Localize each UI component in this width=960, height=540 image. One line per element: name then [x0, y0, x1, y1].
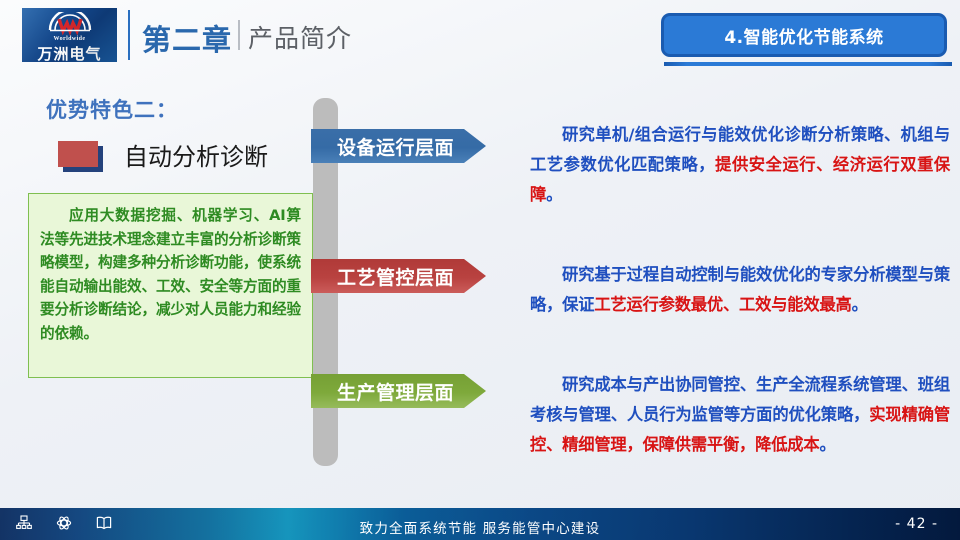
layer-arrow-process[interactable]: 工艺管控层面 — [311, 259, 486, 293]
layer-text-process-tail: 。 — [852, 295, 868, 314]
layer-arrow-equipment-label: 设备运行层面 — [311, 133, 454, 160]
chapter-separator — [238, 20, 240, 50]
slide-root: Worldwide 万洲电气 第二章 产品简介 4.智能优化节能系统 优势特色二… — [0, 0, 960, 540]
header-divider — [128, 10, 130, 60]
chapter-title: 第二章 — [142, 17, 232, 59]
layer-arrow-process-label: 工艺管控层面 — [311, 263, 454, 290]
layer-text-equipment: 研究单机/组合运行与能效优化诊断分析策略、机组与工艺参数优化匹配策略，提供安全运… — [530, 120, 950, 210]
layer-text-production-tail: 。 — [819, 435, 835, 454]
feature-section-title: 优势特色二： — [46, 94, 178, 124]
worldwide-w-emblem-icon — [22, 12, 117, 41]
topic-banner: 4.智能优化节能系统 — [664, 16, 944, 54]
slide-footer: 致力全面系统节能 服务能管中心建设 - 42 - — [0, 508, 960, 540]
layer-text-production: 研究成本与产出协同管控、生产全流程系统管理、班组考核与管理、人员行为监管等方面的… — [530, 370, 950, 460]
feature-description-box: 应用大数据挖掘、机器学习、AI算法等先进技术理念建立丰富的分析诊断策略模型，构建… — [28, 193, 313, 378]
chapter-subtitle: 产品简介 — [248, 19, 352, 55]
feature-heading-row: 自动分析诊断 — [58, 137, 268, 172]
bullet-square-icon — [58, 141, 102, 169]
footer-page-number: - 42 - — [895, 516, 938, 532]
topic-banner-underline — [664, 62, 952, 66]
layer-arrow-equipment[interactable]: 设备运行层面 — [311, 129, 486, 163]
feature-description-text: 应用大数据挖掘、机器学习、AI算法等先进技术理念建立丰富的分析诊断策略模型，构建… — [40, 204, 301, 345]
logo-latin-name: Worldwide — [22, 36, 117, 42]
feature-name: 自动分析诊断 — [124, 137, 268, 172]
layer-arrow-production[interactable]: 生产管理层面 — [311, 374, 486, 408]
layer-text-process: 研究基于过程自动控制与能效优化的专家分析模型与策略，保证工艺运行参数最优、工效与… — [530, 260, 950, 320]
footer-slogan: 致力全面系统节能 服务能管中心建设 — [0, 517, 960, 537]
logo-chinese-name: 万洲电气 — [22, 43, 117, 62]
layer-text-equipment-tail: 。 — [546, 185, 562, 204]
layer-text-process-highlight: 工艺运行参数最优、工效与能效最高 — [594, 295, 851, 314]
topic-banner-label: 4.智能优化节能系统 — [724, 23, 883, 48]
layer-arrow-production-label: 生产管理层面 — [311, 378, 454, 405]
company-logo: Worldwide 万洲电气 — [22, 8, 117, 62]
